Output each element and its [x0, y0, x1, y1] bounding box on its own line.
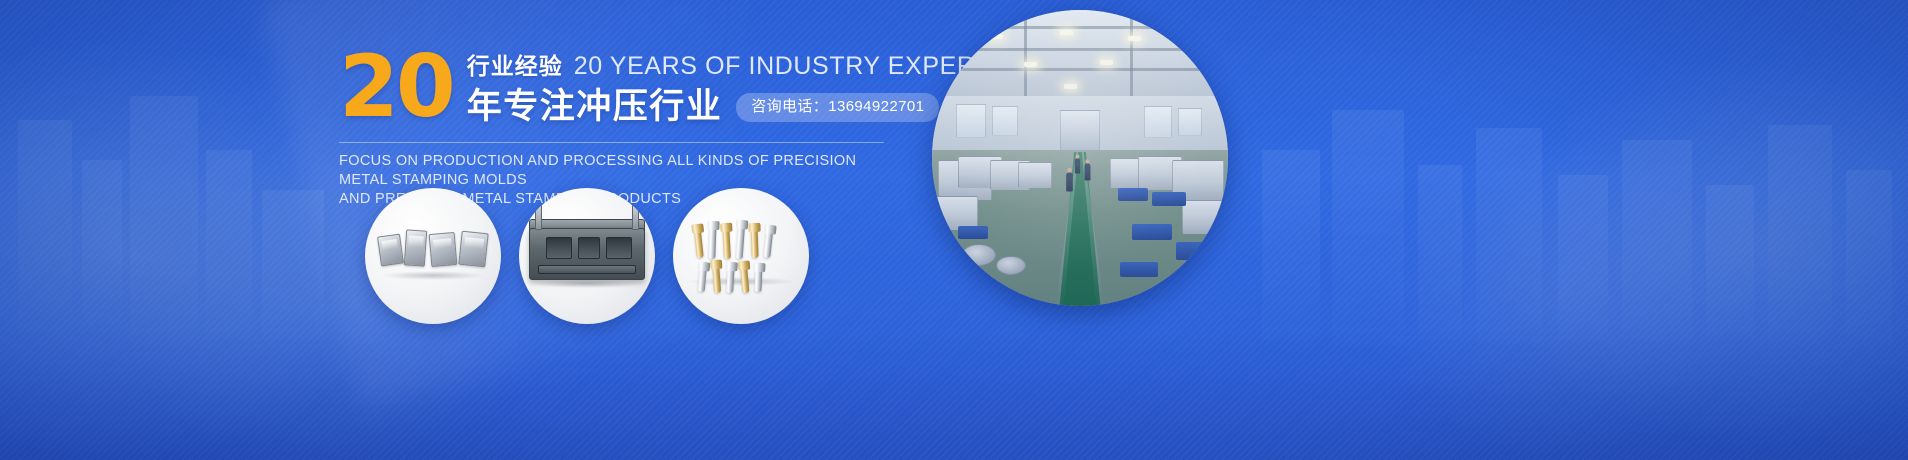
copy-divider — [339, 142, 884, 143]
mold-guide-pin — [535, 204, 542, 230]
product-alt-text: Brass and steel stamped contact pins — [673, 188, 674, 189]
product-showcase: Precision stamped metal shield connector… — [365, 188, 809, 324]
banner-copy-block: 20 行业经验 20 YEARS OF INDUSTRY EXPERIENCE … — [339, 42, 959, 209]
mold-lower-plate — [529, 228, 645, 280]
promotional-banner: 20 行业经验 20 YEARS OF INDUSTRY EXPERIENCE … — [0, 0, 1908, 460]
factory-workshop-photo[interactable]: Factory workshop production line with gr… — [932, 10, 1228, 306]
contact-pin — [693, 224, 704, 259]
mold-guide-pin — [632, 204, 639, 230]
factory-photo-color-tone — [932, 10, 1228, 306]
contact-pin — [722, 223, 731, 259]
years-number: 20 — [339, 50, 453, 124]
contact-pin — [736, 220, 746, 259]
connector-shadow — [381, 271, 485, 280]
subtitle-chinese: 行业经验 — [467, 54, 563, 80]
contact-pin — [708, 221, 716, 259]
product-image-metal-stamped-shield-connectors[interactable]: Precision stamped metal shield connector… — [365, 188, 501, 324]
connector-part — [404, 229, 427, 266]
mold-cavity — [578, 237, 600, 259]
mold-cavity — [606, 237, 632, 259]
page-title: 年专注冲压行业 — [467, 87, 723, 127]
product-alt-text: Precision metal stamping mold die set — [519, 188, 520, 189]
contact-pin — [698, 262, 708, 292]
product-image-stamped-contact-pins[interactable]: Brass and steel stamped contact pins — [673, 188, 809, 324]
consultation-phone-badge[interactable]: 咨询电话：13694922701 — [736, 93, 939, 122]
factory-scene — [932, 10, 1228, 306]
contact-pin — [754, 263, 762, 292]
connector-part — [429, 232, 458, 267]
mold-shadow — [531, 279, 643, 288]
description-line-1: FOCUS ON PRODUCTION AND PROCESSING ALL K… — [339, 152, 899, 190]
contact-pin — [712, 260, 721, 293]
contact-pin — [763, 225, 773, 259]
mold-cavity — [546, 237, 572, 259]
headline-row: 20 行业经验 20 YEARS OF INDUSTRY EXPERIENCE … — [339, 42, 959, 127]
contact-pin — [726, 262, 735, 293]
mold-base-rail — [538, 265, 636, 274]
connector-part — [458, 231, 488, 268]
connector-part — [377, 234, 404, 267]
product-image-precision-stamping-mold[interactable]: Precision metal stamping mold die set — [519, 188, 655, 324]
contact-pin — [750, 223, 758, 258]
contact-pin — [740, 261, 750, 293]
product-alt-text: Precision stamped metal shield connector… — [365, 188, 366, 189]
